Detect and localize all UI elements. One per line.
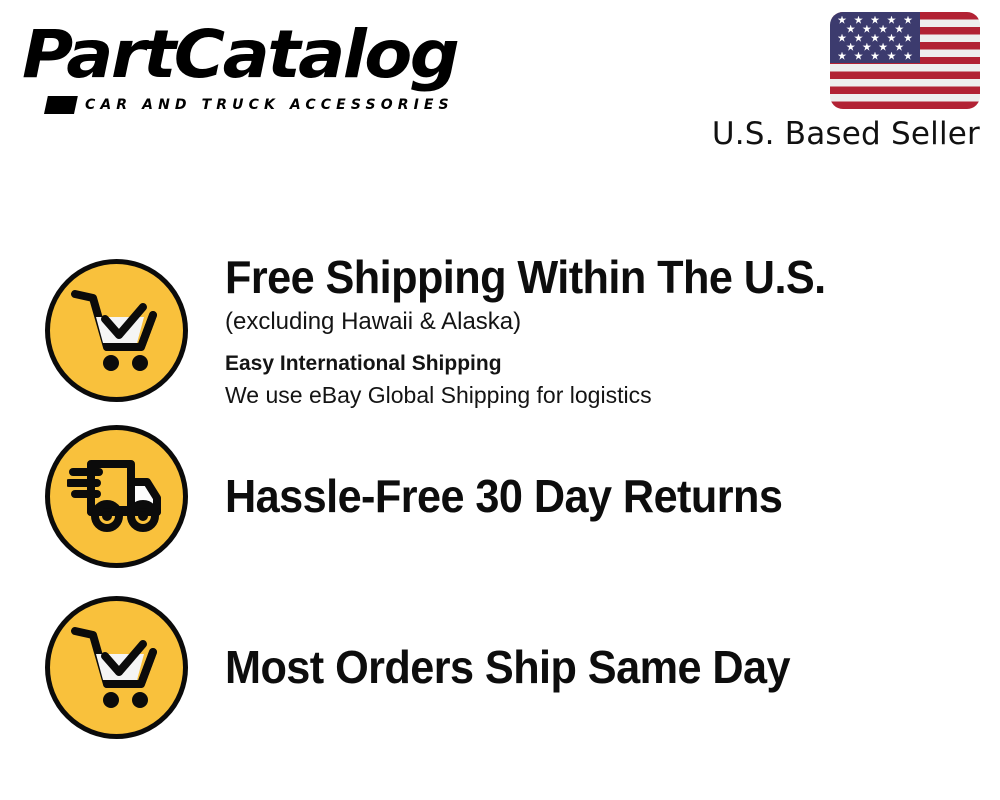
feature-headline: Hassle-Free 30 Day Returns	[225, 470, 935, 522]
feature-row: Free Shipping Within The U.S. (excluding…	[0, 250, 1000, 410]
banner-header: PartCatalog CAR AND TRUCK ACCESSORIES	[0, 0, 1000, 170]
flag-star	[871, 52, 880, 61]
feature-subline-logistics: We use eBay Global Shipping for logistic…	[225, 380, 980, 410]
us-based-seller-badge: U.S. Based Seller	[718, 10, 988, 160]
feature-subline-excluding: (excluding Hawaii & Alaska)	[225, 305, 980, 339]
us-based-seller-label: U.S. Based Seller	[712, 114, 980, 154]
partcatalog-logo: PartCatalog CAR AND TRUCK ACCESSORIES	[22, 22, 492, 117]
logo-accent-mark	[44, 96, 78, 114]
feature-row: Hassle-Free 30 Day Returns	[0, 422, 1000, 570]
shopping-cart-check-icon	[45, 259, 188, 402]
flag-star	[854, 52, 863, 61]
delivery-truck-icon	[45, 425, 188, 568]
feature-subline-international: Easy International Shipping	[225, 349, 980, 379]
feature-text: Hassle-Free 30 Day Returns	[225, 470, 1000, 522]
flag-star	[887, 52, 896, 61]
feature-text: Free Shipping Within The U.S. (excluding…	[225, 251, 1000, 410]
promo-banner: PartCatalog CAR AND TRUCK ACCESSORIES	[0, 0, 1000, 800]
brand-tagline: CAR AND TRUCK ACCESSORIES	[85, 97, 454, 113]
us-flag-icon	[830, 12, 980, 109]
flag-star	[838, 52, 847, 61]
feature-headline: Free Shipping Within The U.S.	[225, 251, 935, 303]
feature-text: Most Orders Ship Same Day	[225, 641, 1000, 693]
shopping-cart-check-icon	[45, 596, 188, 739]
flag-canton	[830, 12, 920, 63]
feature-headline: Most Orders Ship Same Day	[225, 641, 935, 693]
flag-star	[904, 52, 913, 61]
feature-row: Most Orders Ship Same Day	[0, 593, 1000, 741]
brand-wordmark: PartCatalog	[22, 22, 457, 88]
flag-star-row	[830, 51, 920, 61]
